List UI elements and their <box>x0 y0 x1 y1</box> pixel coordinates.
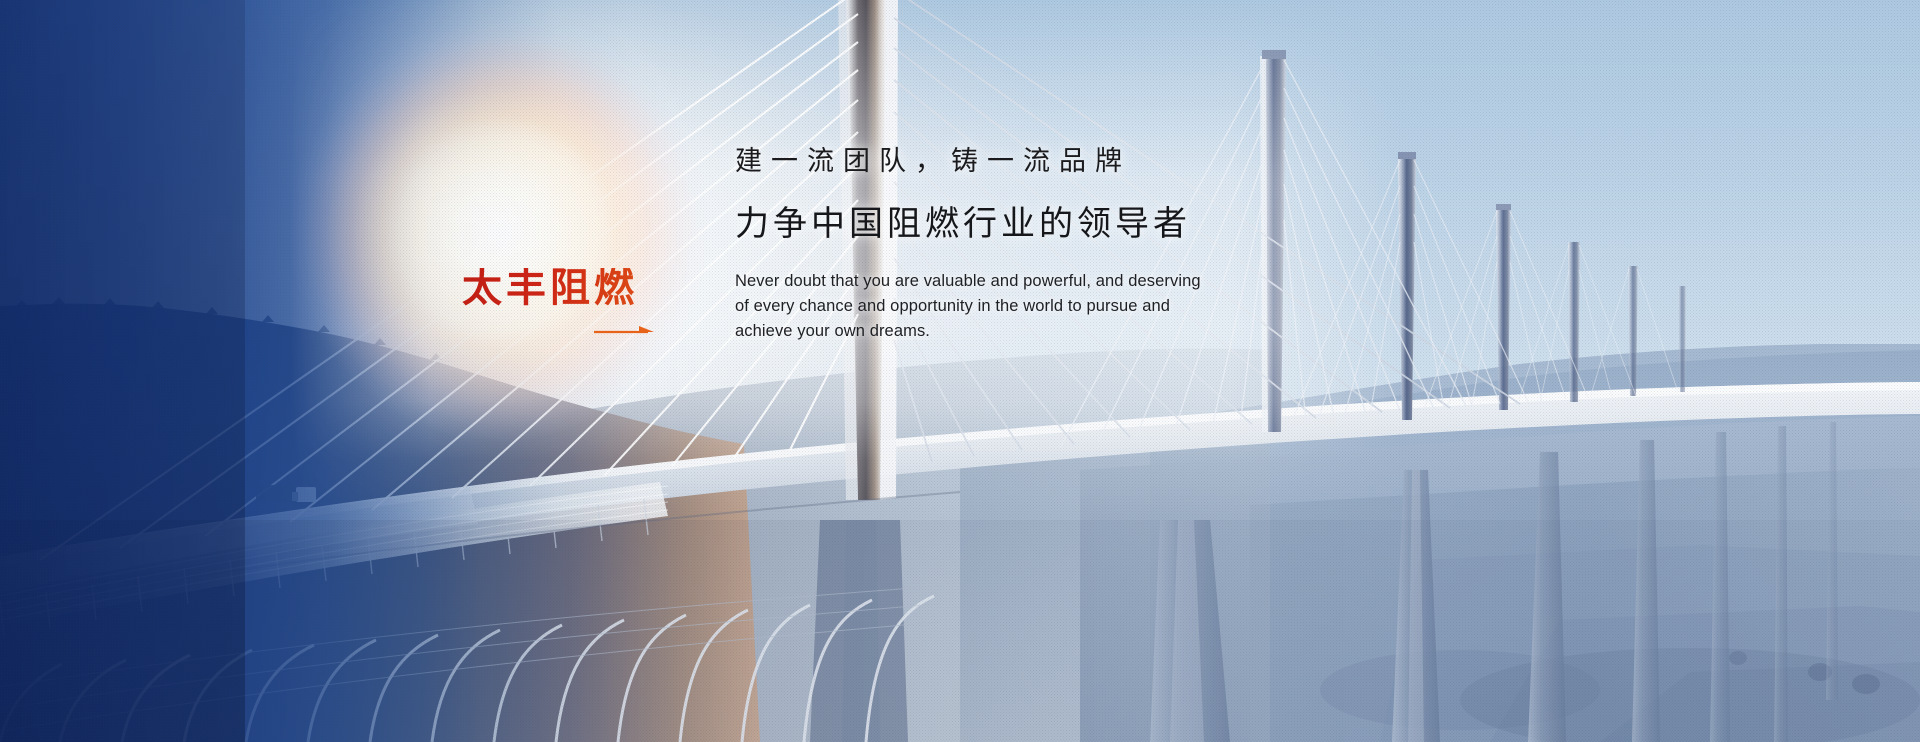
hero-banner: 太丰阻燃 建一流团队，铸一流品牌 力争中国阻燃行业的领导者 Never doub… <box>0 0 1920 742</box>
company-logo[interactable]: 太丰阻燃 <box>462 268 662 308</box>
banner-content: 太丰阻燃 建一流团队，铸一流品牌 力争中国阻燃行业的领导者 Never doub… <box>0 0 1920 742</box>
headline-block: 建一流团队，铸一流品牌 力争中国阻燃行业的领导者 Never doubt tha… <box>735 148 1435 344</box>
banner-slogan: 建一流团队，铸一流品牌 <box>735 148 1435 175</box>
description-line-3: achieve your own dreams. <box>735 319 1435 344</box>
description-line-1: Never doubt that you are valuable and po… <box>735 269 1435 294</box>
banner-description: Never doubt that you are valuable and po… <box>735 269 1435 344</box>
description-line-2: of every chance and opportunity in the w… <box>735 294 1435 319</box>
banner-title: 力争中国阻燃行业的领导者 <box>735 207 1435 241</box>
arrow-right-icon <box>594 324 658 338</box>
logo-text: 太丰阻燃 <box>462 268 662 308</box>
